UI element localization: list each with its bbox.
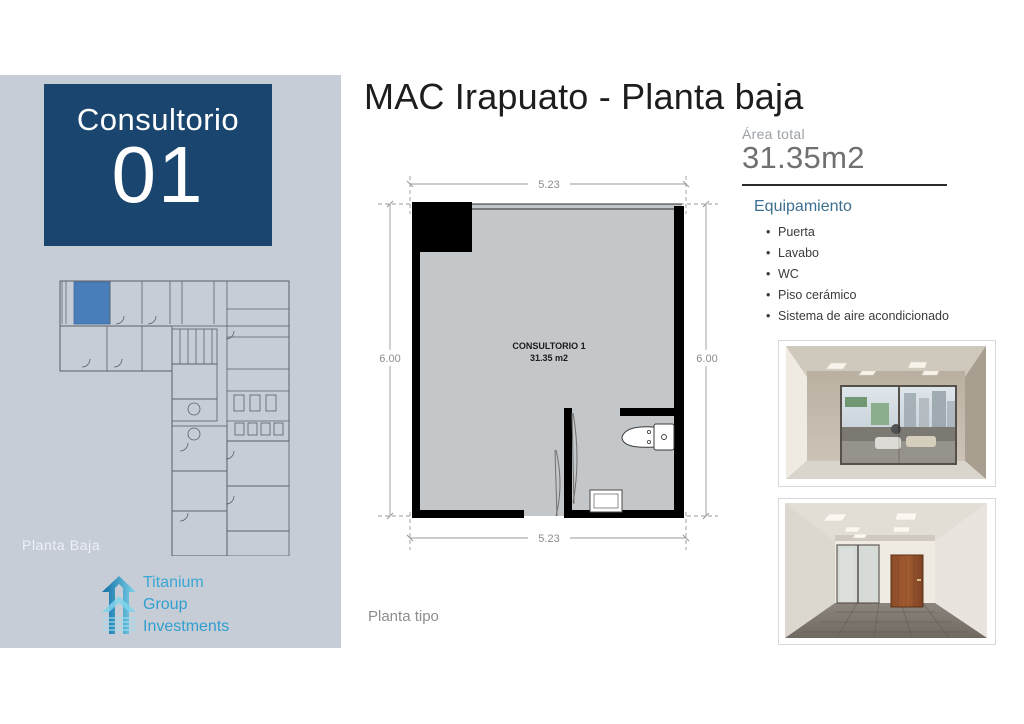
dim-right-label: 6.00	[696, 353, 717, 365]
titanium-chevron-logo-icon	[98, 574, 140, 636]
company-logo: Titanium Group Investments	[98, 572, 229, 638]
unit-number-card: Consultorio 01	[44, 84, 272, 246]
unit-card-number: 01	[44, 137, 272, 213]
room-area-label: 31.35 m2	[530, 353, 568, 363]
equipment-list: Puerta Lavabo WC Piso cerámico Sistema d…	[742, 222, 992, 327]
area-total-value: 31.35m2	[742, 140, 992, 176]
floorplan-caption: Planta tipo	[368, 608, 439, 625]
equipment-item: Sistema de aire acondicionado	[778, 306, 992, 327]
equipment-item: Piso cerámico	[778, 285, 992, 306]
company-logo-text: Titanium Group Investments	[143, 572, 229, 638]
logo-line-3: Investments	[143, 616, 229, 638]
left-sidebar: Consultorio 01	[0, 75, 341, 648]
logo-line-2: Group	[143, 594, 229, 616]
lavabo-fixture	[590, 490, 622, 512]
info-panel: Área total 31.35m2 Equipamiento Puerta L…	[742, 126, 992, 327]
keyplan-diagram	[52, 271, 297, 556]
interior-render-glass-facade	[778, 340, 996, 487]
dim-left-label: 6.00	[379, 353, 400, 365]
equipment-item: Puerta	[778, 222, 992, 243]
keyplan-label: Planta Baja	[22, 537, 100, 553]
page-title: MAC Irapuato - Planta baja	[364, 76, 803, 118]
room-name-label: CONSULTORIO 1	[512, 341, 585, 351]
logo-line-1: Titanium	[143, 572, 229, 594]
section-divider	[742, 184, 947, 186]
interior-render-corridor-door	[778, 498, 996, 645]
dim-top-label: 5.23	[538, 179, 559, 191]
equipment-item: Lavabo	[778, 243, 992, 264]
equipment-item: WC	[778, 264, 992, 285]
equipment-title: Equipamiento	[754, 198, 992, 216]
floorplan-drawing: 5.23 5.23 6.00 6.00	[368, 168, 728, 558]
dim-bottom-label: 5.23	[538, 533, 559, 545]
